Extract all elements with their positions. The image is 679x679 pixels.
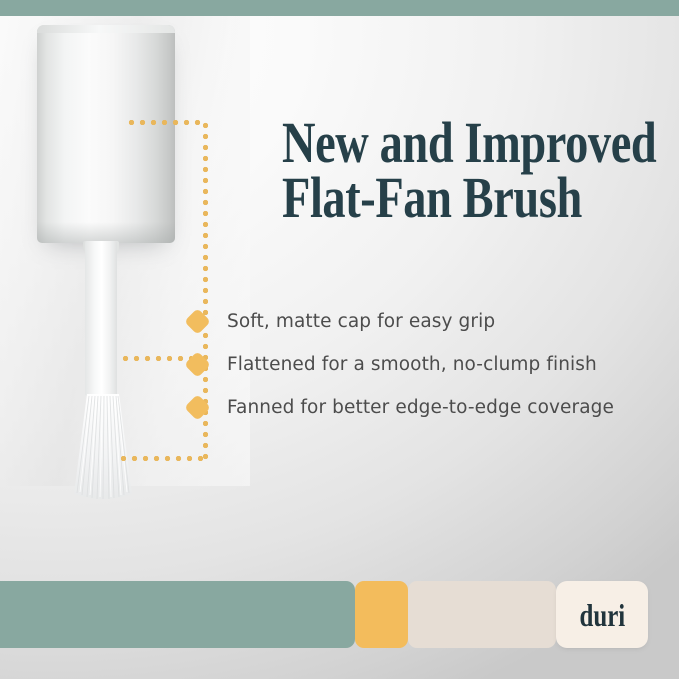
feature-label: Flattened for a smooth, no-clump finish [227,354,597,375]
product-banner: New and Improved Flat-Fan Brush Soft, ma… [0,0,679,679]
connector-dots-bristles-horizontal [118,456,208,461]
color-block-gold [355,581,408,648]
brand-logo-text: duri [579,599,625,631]
list-item: Soft, matte cap for easy grip [186,300,656,343]
bottle-cap-shadow [37,222,175,243]
color-block-green [0,581,355,648]
feature-label: Fanned for better edge-to-edge coverage [227,397,614,418]
feature-label: Soft, matte cap for easy grip [227,311,495,332]
feature-list: Soft, matte cap for easy grip Flattened … [186,300,656,429]
list-item: Fanned for better edge-to-edge coverage [186,386,656,429]
headline-line-2: Flat-Fan Brush [282,171,586,226]
diamond-bullet-icon [184,394,211,421]
brand-logo-tile: duri [556,581,648,648]
diamond-bullet-icon [184,308,211,335]
brush-bristles [58,394,148,504]
bottle-cap-top [37,25,175,33]
connector-dots-vertical-upper [203,120,208,315]
diamond-bullet-icon [184,351,211,378]
color-block-cream [408,581,556,648]
connector-dots-cap-horizontal [126,120,206,125]
brush-handle [85,241,117,396]
top-accent-strip [0,0,679,16]
connector-dots-handle-horizontal [120,356,192,361]
list-item: Flattened for a smooth, no-clump finish [186,343,656,386]
page-title: New and Improved Flat-Fan Brush [282,116,586,225]
bottle-cap [37,25,175,243]
bottom-color-bar: duri [0,581,679,648]
